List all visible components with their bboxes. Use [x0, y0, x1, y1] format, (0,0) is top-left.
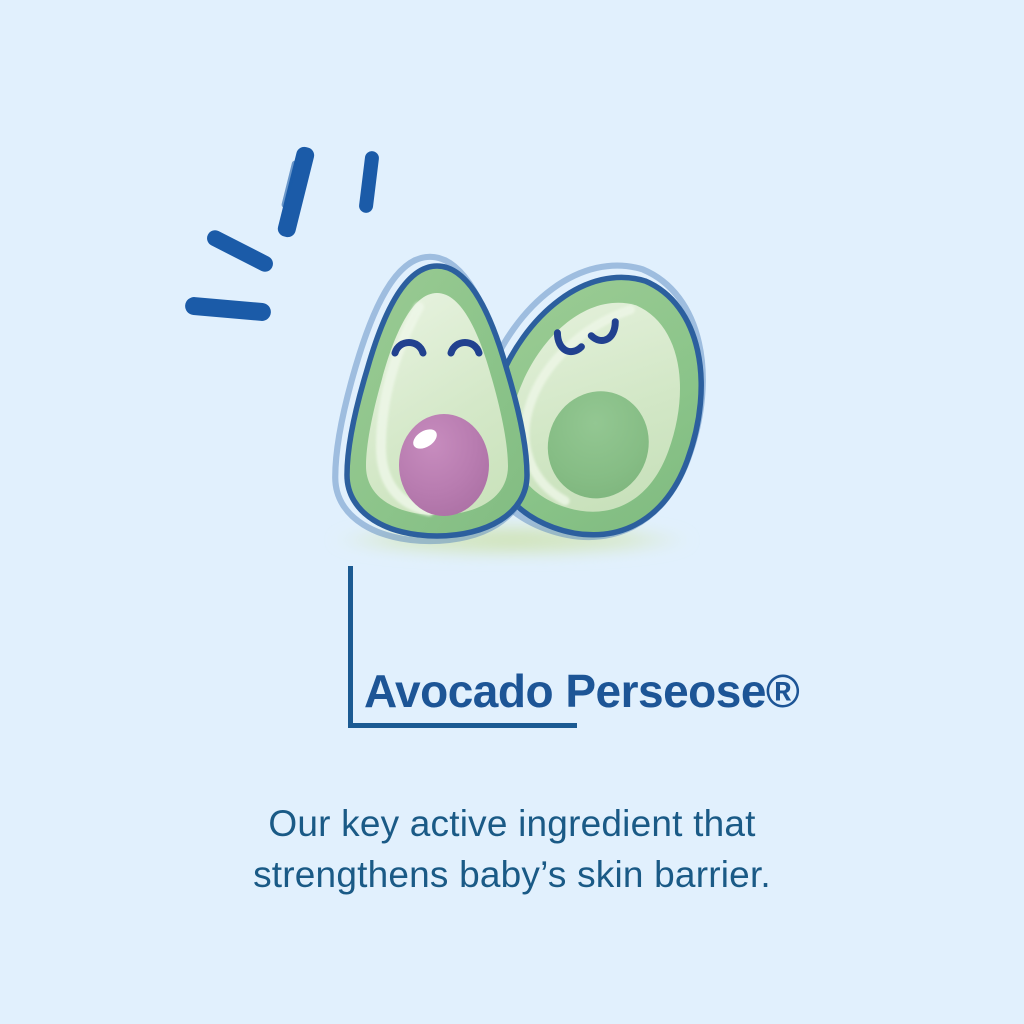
sparkle-marks-group — [184, 145, 379, 322]
sparkle-dash-2 — [358, 150, 379, 213]
bracket-vertical-rule — [348, 566, 353, 726]
bracket-horizontal-rule — [348, 723, 577, 728]
description-line-1: Our key active ingredient that — [0, 798, 1024, 849]
avocado-half-left — [335, 257, 527, 541]
ingredient-title: Avocado Perseose® — [364, 668, 799, 714]
sparkle-dash-4 — [184, 296, 271, 321]
avocado-pit-purple — [399, 414, 489, 516]
sparkle-dash-1 — [274, 145, 316, 239]
ingredient-description: Our key active ingredient that strengthe… — [0, 798, 1024, 900]
promo-card: Avocado Perseose® Our key active ingredi… — [0, 0, 1024, 1024]
sparkle-dash-3 — [204, 228, 275, 275]
description-line-2: strengthens baby’s skin barrier. — [0, 849, 1024, 900]
